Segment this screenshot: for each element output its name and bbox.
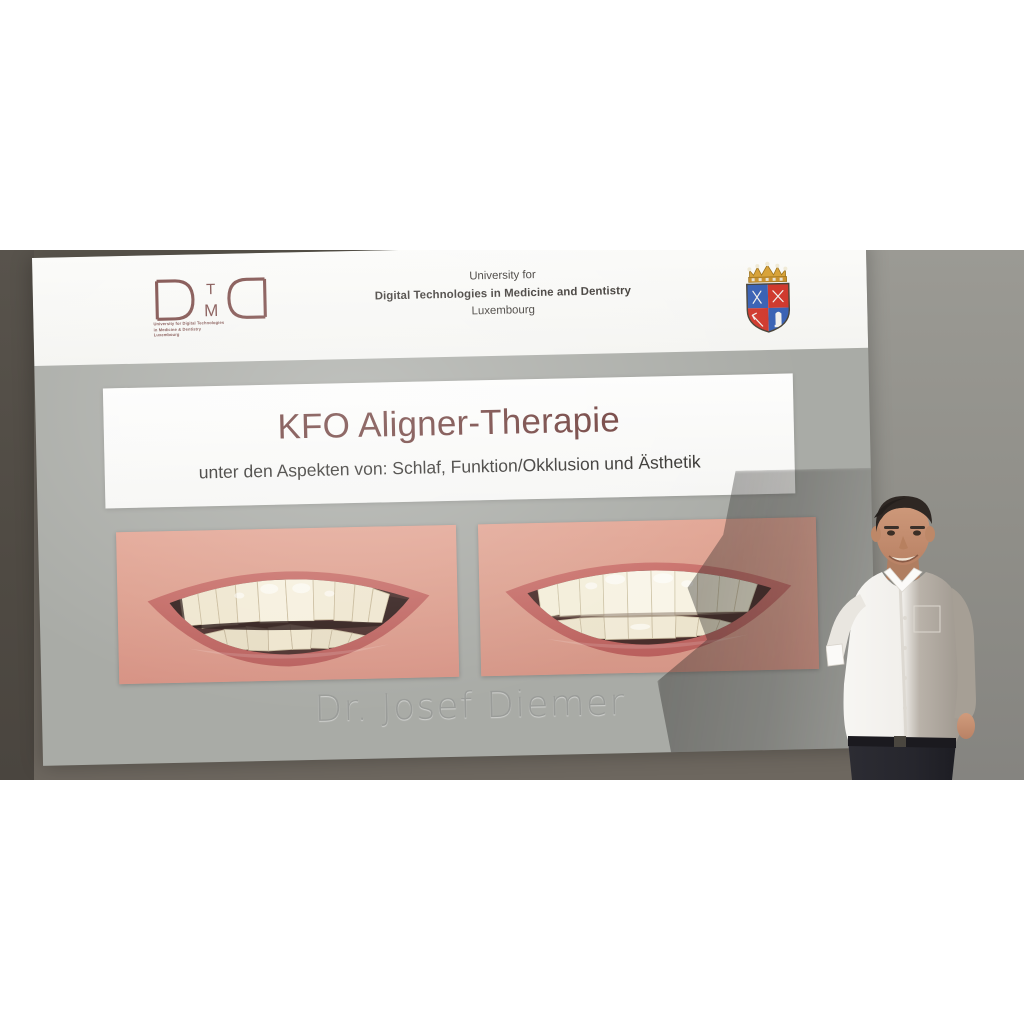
slide-title-panel: KFO Aligner-Therapie unter den Aspekten … bbox=[103, 373, 795, 508]
slide-title: KFO Aligner-Therapie bbox=[277, 398, 620, 449]
clinical-photo-before bbox=[116, 525, 459, 684]
letterbox-bottom bbox=[0, 780, 1024, 1024]
wall-left bbox=[0, 250, 34, 780]
dtmd-logo: T M University for Digital Technologies … bbox=[150, 273, 272, 348]
university-name: University for Digital Technologies in M… bbox=[332, 264, 673, 324]
slide-presenter-name: Dr. Josef Diemer bbox=[119, 677, 820, 736]
presenter-person bbox=[826, 488, 1016, 780]
svg-text:M: M bbox=[204, 301, 219, 320]
coat-of-arms-icon bbox=[740, 257, 796, 334]
screenshot-stage: T M University for Digital Technologies … bbox=[0, 0, 1024, 1024]
letterbox-top bbox=[0, 0, 1024, 250]
svg-text:T: T bbox=[206, 281, 216, 298]
clinical-photo-after bbox=[478, 517, 819, 676]
room-photograph: T M University for Digital Technologies … bbox=[0, 250, 1024, 780]
slide-subtitle: unter den Aspekten von: Schlaf, Funktion… bbox=[198, 448, 700, 485]
clinical-photo-row bbox=[116, 517, 819, 684]
dtmd-logo-subtitle: University for Digital Technologies in M… bbox=[153, 319, 269, 338]
slide-header-band: T M University for Digital Technologies … bbox=[32, 250, 868, 366]
projected-slide: T M University for Digital Technologies … bbox=[32, 250, 877, 766]
logo-sub-line-3: Luxembourg bbox=[154, 330, 270, 338]
